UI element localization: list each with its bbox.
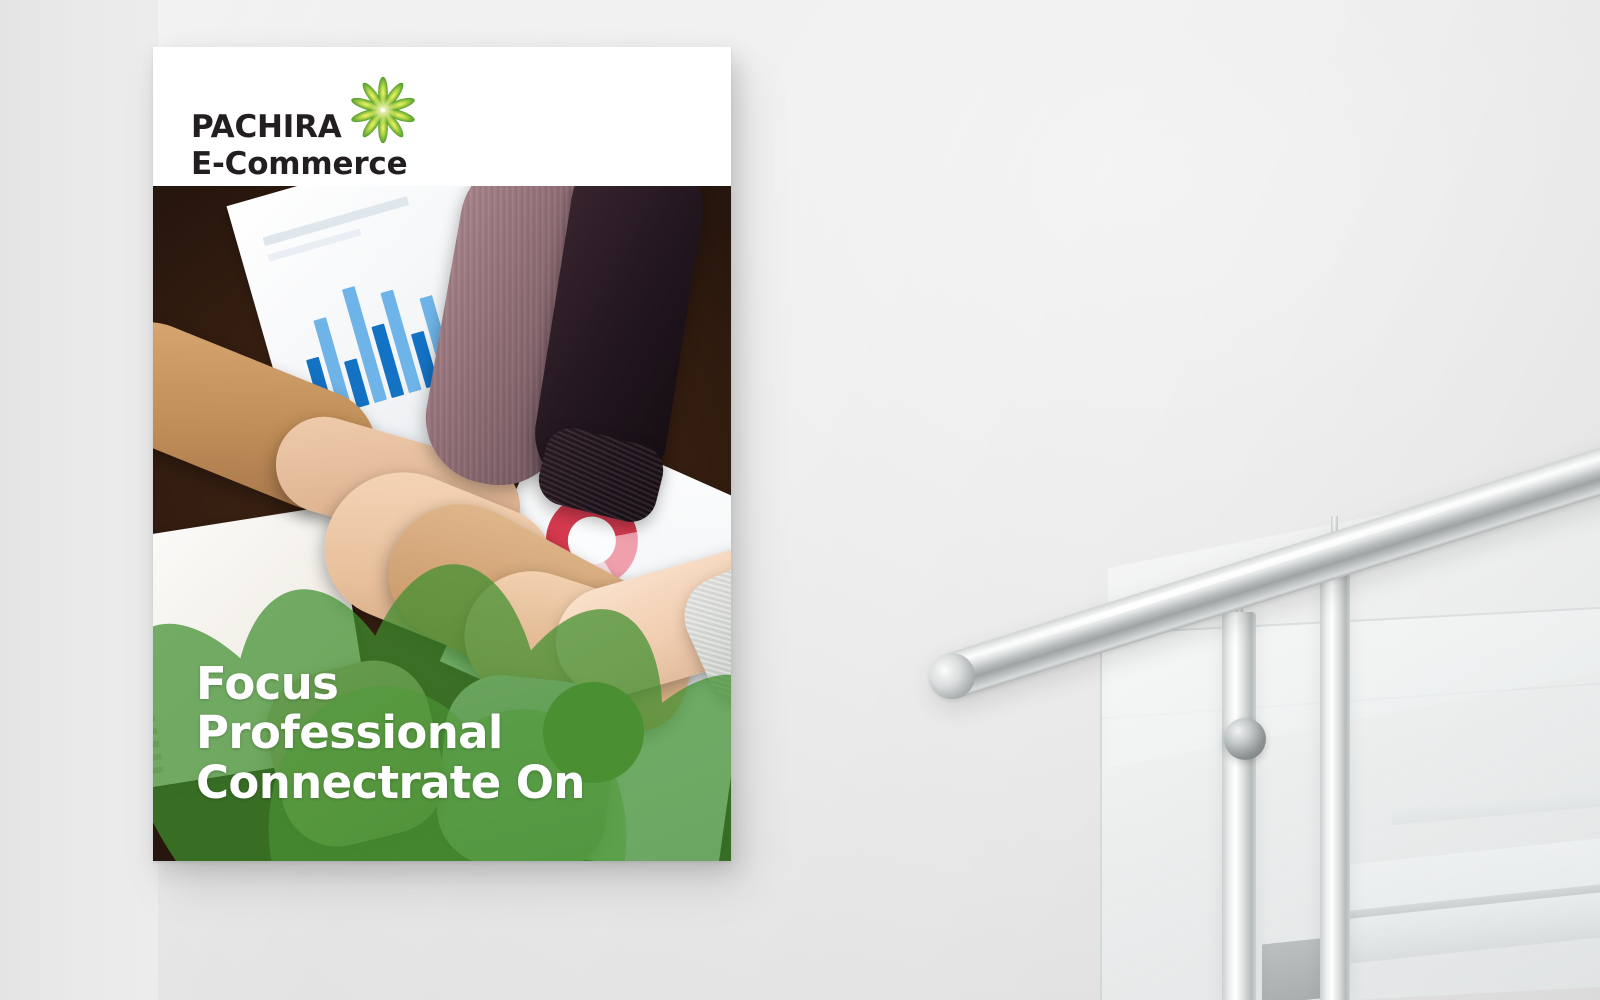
wall-seam-line <box>1100 683 1600 720</box>
pachira-flower-logo-icon <box>346 73 420 147</box>
railing-post-right <box>1320 540 1350 1000</box>
scene-root: PACHIRA E-Commerce <box>0 0 1600 1000</box>
handrail-highlight <box>969 453 1600 661</box>
poster-photograph: Focus Professional Connectrate On <box>153 186 731 861</box>
wall-left-corner <box>0 0 158 1000</box>
railing-standoff-b <box>1331 516 1338 556</box>
brand-logo: PACHIRA E-Commerce <box>191 73 407 182</box>
railing-post-left <box>1222 612 1256 1000</box>
glass-balustrade-panel <box>1100 607 1600 1000</box>
poster-mockup[interactable]: PACHIRA E-Commerce <box>153 47 731 861</box>
stair-riser <box>1340 838 1600 923</box>
glass-balustrade-upper <box>1108 472 1600 768</box>
railing-standoff-a <box>1236 590 1243 630</box>
handrail <box>923 433 1600 705</box>
stair-tread <box>1340 891 1600 964</box>
stair-nosing-edge <box>1336 884 1600 920</box>
railing-ball-joint <box>1224 718 1266 760</box>
stair-shadow-gap <box>1262 935 1348 1000</box>
baseboard <box>1392 791 1600 825</box>
poster-headline: Focus Professional Connectrate On <box>196 659 585 807</box>
poster-header-band: PACHIRA E-Commerce <box>153 47 731 186</box>
